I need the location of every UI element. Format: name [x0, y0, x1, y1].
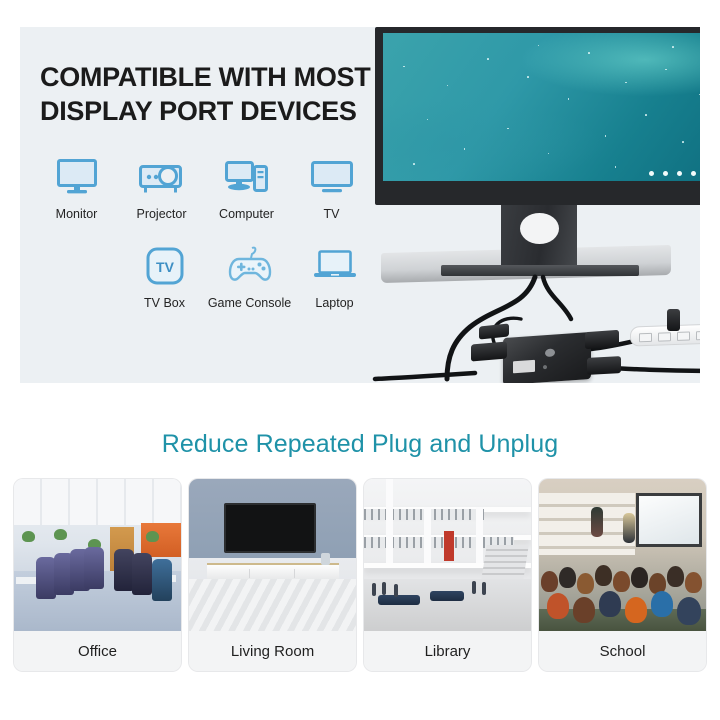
scenario-caption: School [539, 631, 706, 671]
power-plug [667, 309, 680, 331]
laptop-icon [292, 243, 377, 289]
device-label: Game Console [208, 296, 291, 310]
monitor-icon [34, 154, 119, 200]
desktop-computer-icon [204, 154, 289, 200]
splitter-switch-button[interactable] [545, 348, 555, 357]
game-controller-icon [207, 243, 292, 289]
scenario-caption: Library [364, 631, 531, 671]
device-label: TV [324, 207, 340, 221]
output-connector-1 [585, 330, 619, 349]
device-row-2: TV TV Box [34, 243, 384, 310]
device-label: Computer [219, 207, 274, 221]
device-item-computer: Computer [204, 154, 289, 221]
device-label: TV Box [144, 296, 185, 310]
device-item-projector: Projector [119, 154, 204, 221]
tv-box-icon: TV [122, 243, 207, 289]
scenario-card-office[interactable]: Office [14, 479, 181, 671]
device-item-laptop: Laptop [292, 243, 377, 310]
scenario-cards: Office Living Room [14, 479, 706, 671]
device-item-tv: TV [289, 154, 374, 221]
device-item-monitor: Monitor [34, 154, 119, 221]
office-photo [14, 479, 181, 631]
splitter-label-panel [513, 360, 535, 374]
product-marketing-image: COMPATIBLE WITH MOST DISPLAY PORT DEVICE… [0, 0, 720, 720]
compatible-devices-grid: Monitor Projector [34, 154, 384, 310]
scenario-card-living-room[interactable]: Living Room [189, 479, 356, 671]
library-photo [364, 479, 531, 631]
page-title: COMPATIBLE WITH MOST DISPLAY PORT DEVICE… [40, 60, 380, 129]
device-label: Laptop [315, 296, 353, 310]
output-connector-2 [587, 356, 621, 375]
device-row-1: Monitor Projector [34, 154, 384, 221]
scenario-card-school[interactable]: School [539, 479, 706, 671]
power-strip [630, 323, 700, 346]
device-item-game-console: Game Console [207, 243, 292, 310]
device-label: Monitor [56, 207, 98, 221]
splitter-device [503, 332, 591, 383]
compatibility-panel: COMPATIBLE WITH MOST DISPLAY PORT DEVICE… [20, 27, 700, 383]
device-item-tv-box: TV TV Box [122, 243, 207, 310]
section-title: Reduce Repeated Plug and Unplug [0, 430, 720, 459]
projector-icon [119, 154, 204, 200]
displayport-splitter-photo [375, 27, 700, 383]
tv-icon [289, 154, 374, 200]
living-room-photo [189, 479, 356, 631]
headline-line-2: DISPLAY PORT DEVICES [40, 94, 380, 128]
splitter-led [543, 365, 547, 369]
svg-text:TV: TV [156, 259, 175, 275]
headline-line-1: COMPATIBLE WITH MOST [40, 60, 380, 94]
scenario-caption: Office [14, 631, 181, 671]
scenario-caption: Living Room [189, 631, 356, 671]
school-photo [539, 479, 706, 631]
scenario-card-library[interactable]: Library [364, 479, 531, 671]
input-connector-left [471, 341, 507, 361]
device-label: Projector [136, 207, 186, 221]
